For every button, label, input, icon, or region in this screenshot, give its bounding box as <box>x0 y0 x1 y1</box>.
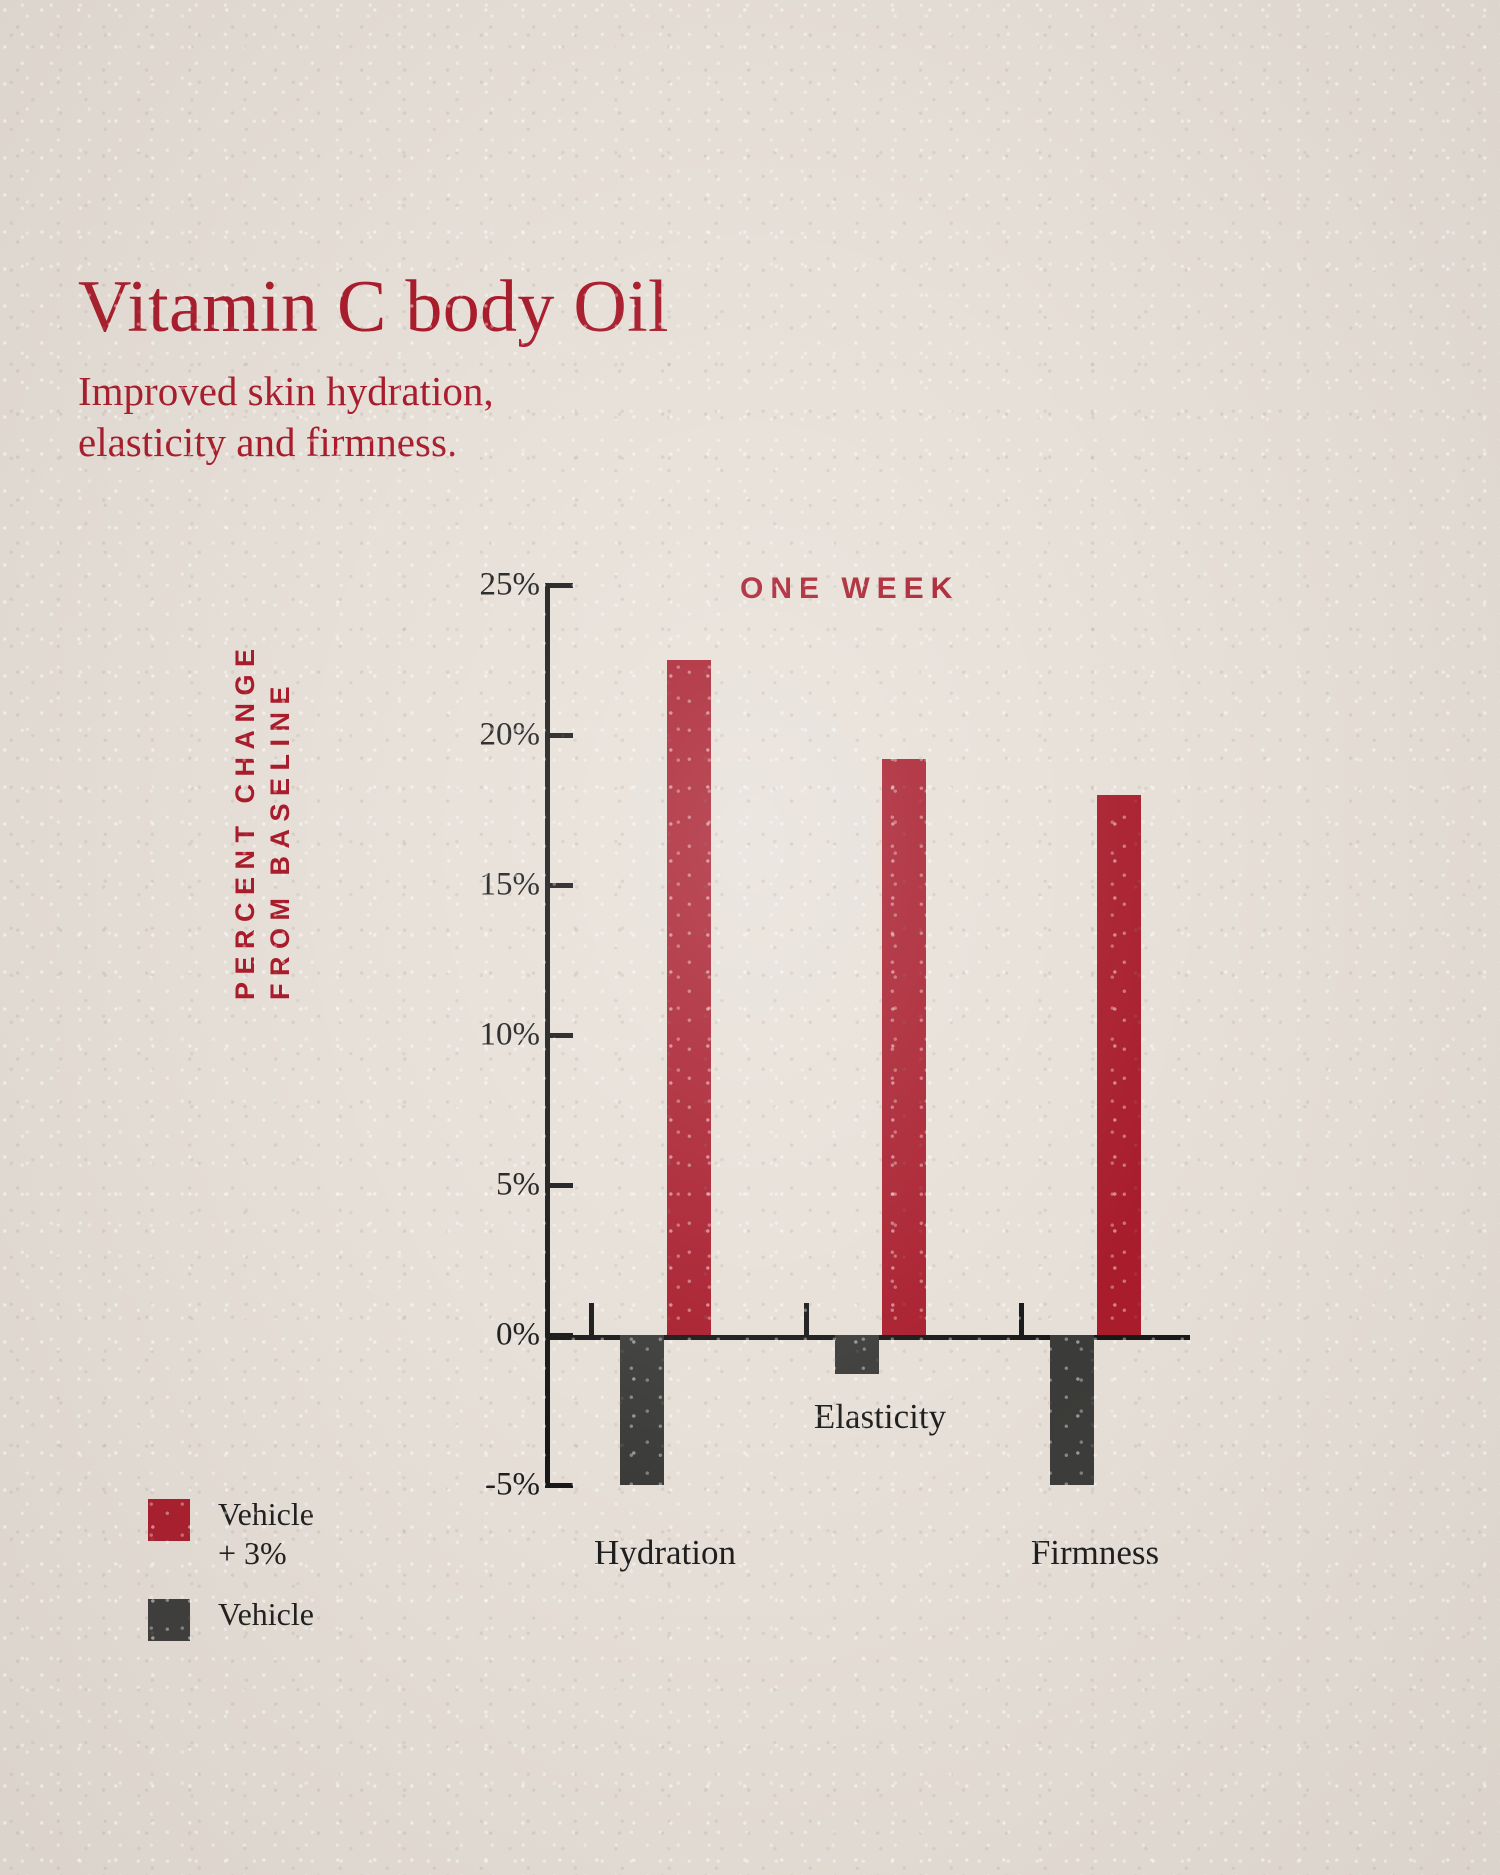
y-axis-title-line-1: PERCENT CHANGE <box>230 641 261 1000</box>
y-axis-tick-label: 10% <box>480 1017 541 1054</box>
y-axis-tick-label: -5% <box>485 1467 540 1504</box>
y-axis-tick <box>545 1183 573 1188</box>
legend-item[interactable]: Vehicle <box>148 1595 478 1641</box>
legend-label: Vehicle + 3% <box>218 1495 314 1573</box>
bar-vehicle-elasticity <box>835 1335 879 1374</box>
y-axis-tick-label: 15% <box>480 867 541 904</box>
category-tick <box>589 1303 594 1337</box>
y-axis-tick <box>545 883 573 888</box>
y-axis-tick <box>545 1483 573 1488</box>
bar-vehicle-plus-3-firmness <box>1097 795 1141 1335</box>
category-label-hydration: Hydration <box>594 1533 736 1573</box>
bar-vehicle-plus-3-hydration <box>667 660 711 1335</box>
page-title: Vitamin C body Oil <box>78 270 978 344</box>
bar-vehicle-plus-3-elasticity <box>882 759 926 1335</box>
bar-vehicle-firmness <box>1050 1335 1094 1485</box>
chart-legend: Vehicle + 3% Vehicle <box>148 1495 478 1663</box>
legend-item[interactable]: Vehicle + 3% <box>148 1495 478 1573</box>
y-axis-tick-labels: 25%20%15%10%5%0%-5% <box>440 585 540 1485</box>
y-axis-tick <box>545 733 573 738</box>
legend-swatch-vehicle-plus-3 <box>148 1499 190 1541</box>
y-axis-tick-label: 0% <box>496 1317 540 1354</box>
y-axis-tick-label: 25% <box>480 567 541 604</box>
y-axis-title: PERCENT CHANGE FROM BASELINE <box>198 580 328 1000</box>
page-subtitle: Improved skin hydration, elasticity and … <box>78 366 978 469</box>
y-axis-tick-label: 5% <box>496 1167 540 1204</box>
plot-area <box>545 585 1190 1485</box>
category-tick <box>804 1303 809 1337</box>
category-label-firmness: Firmness <box>1031 1533 1159 1573</box>
header-block: Vitamin C body Oil Improved skin hydrati… <box>78 270 978 469</box>
bar-vehicle-hydration <box>620 1335 664 1485</box>
y-axis-title-line-2: FROM BASELINE <box>265 679 296 1000</box>
category-label-elasticity: Elasticity <box>814 1397 946 1437</box>
y-axis-tick <box>545 583 573 588</box>
legend-label: Vehicle <box>218 1595 314 1634</box>
y-axis-tick-label: 20% <box>480 717 541 754</box>
category-tick <box>1019 1303 1024 1337</box>
legend-swatch-vehicle <box>148 1599 190 1641</box>
y-axis-tick <box>545 1033 573 1038</box>
y-axis-tick <box>545 1333 573 1338</box>
